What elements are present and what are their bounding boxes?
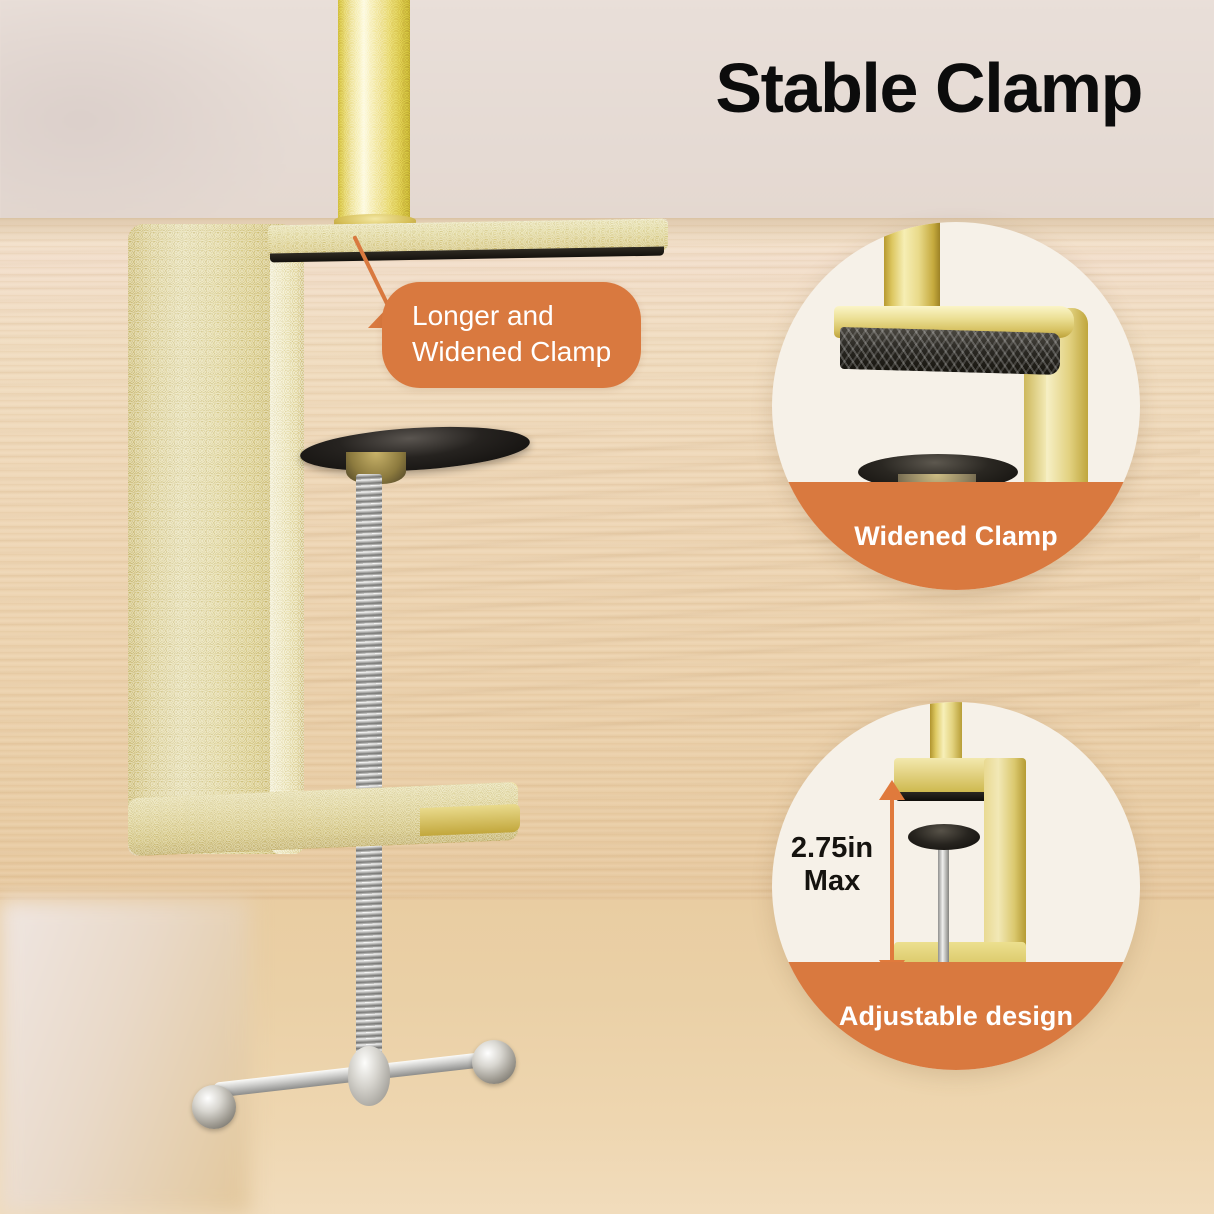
inset2-caption: Adjustable design [772,962,1140,1070]
inset1-caption: Widened Clamp [772,482,1140,590]
threaded-screw [356,474,382,1084]
t-handle-hub [348,1046,390,1106]
inset-widened-clamp: Widened Clamp [772,222,1140,590]
inset2-black-knob [908,824,980,850]
clamp-back-slab [128,224,288,854]
black-pressure-pad [299,421,531,477]
inset-adjustable-design: 2.75in Max Adjustable design [772,702,1140,1070]
dimension-label: 2.75in Max [782,832,882,898]
gold-clamp-product [120,0,550,1214]
callout-label-longer-widened-clamp: Longer and Widened Clamp [382,282,641,388]
product-feature-image: Stable Clamp Longer and Widened Clamp Wi… [0,0,1214,1214]
inset1-black-grip-pad [840,327,1060,375]
clamp-bottom-jaw-edge [420,804,520,836]
inset1-gold-pole [884,222,940,316]
gold-pole [338,0,410,228]
clamp-front-lip [270,226,304,854]
t-handle-ball-left [192,1085,236,1129]
dimension-arrow-line [890,796,894,964]
page-title: Stable Clamp [715,52,1142,126]
t-handle-ball-right [472,1040,516,1084]
